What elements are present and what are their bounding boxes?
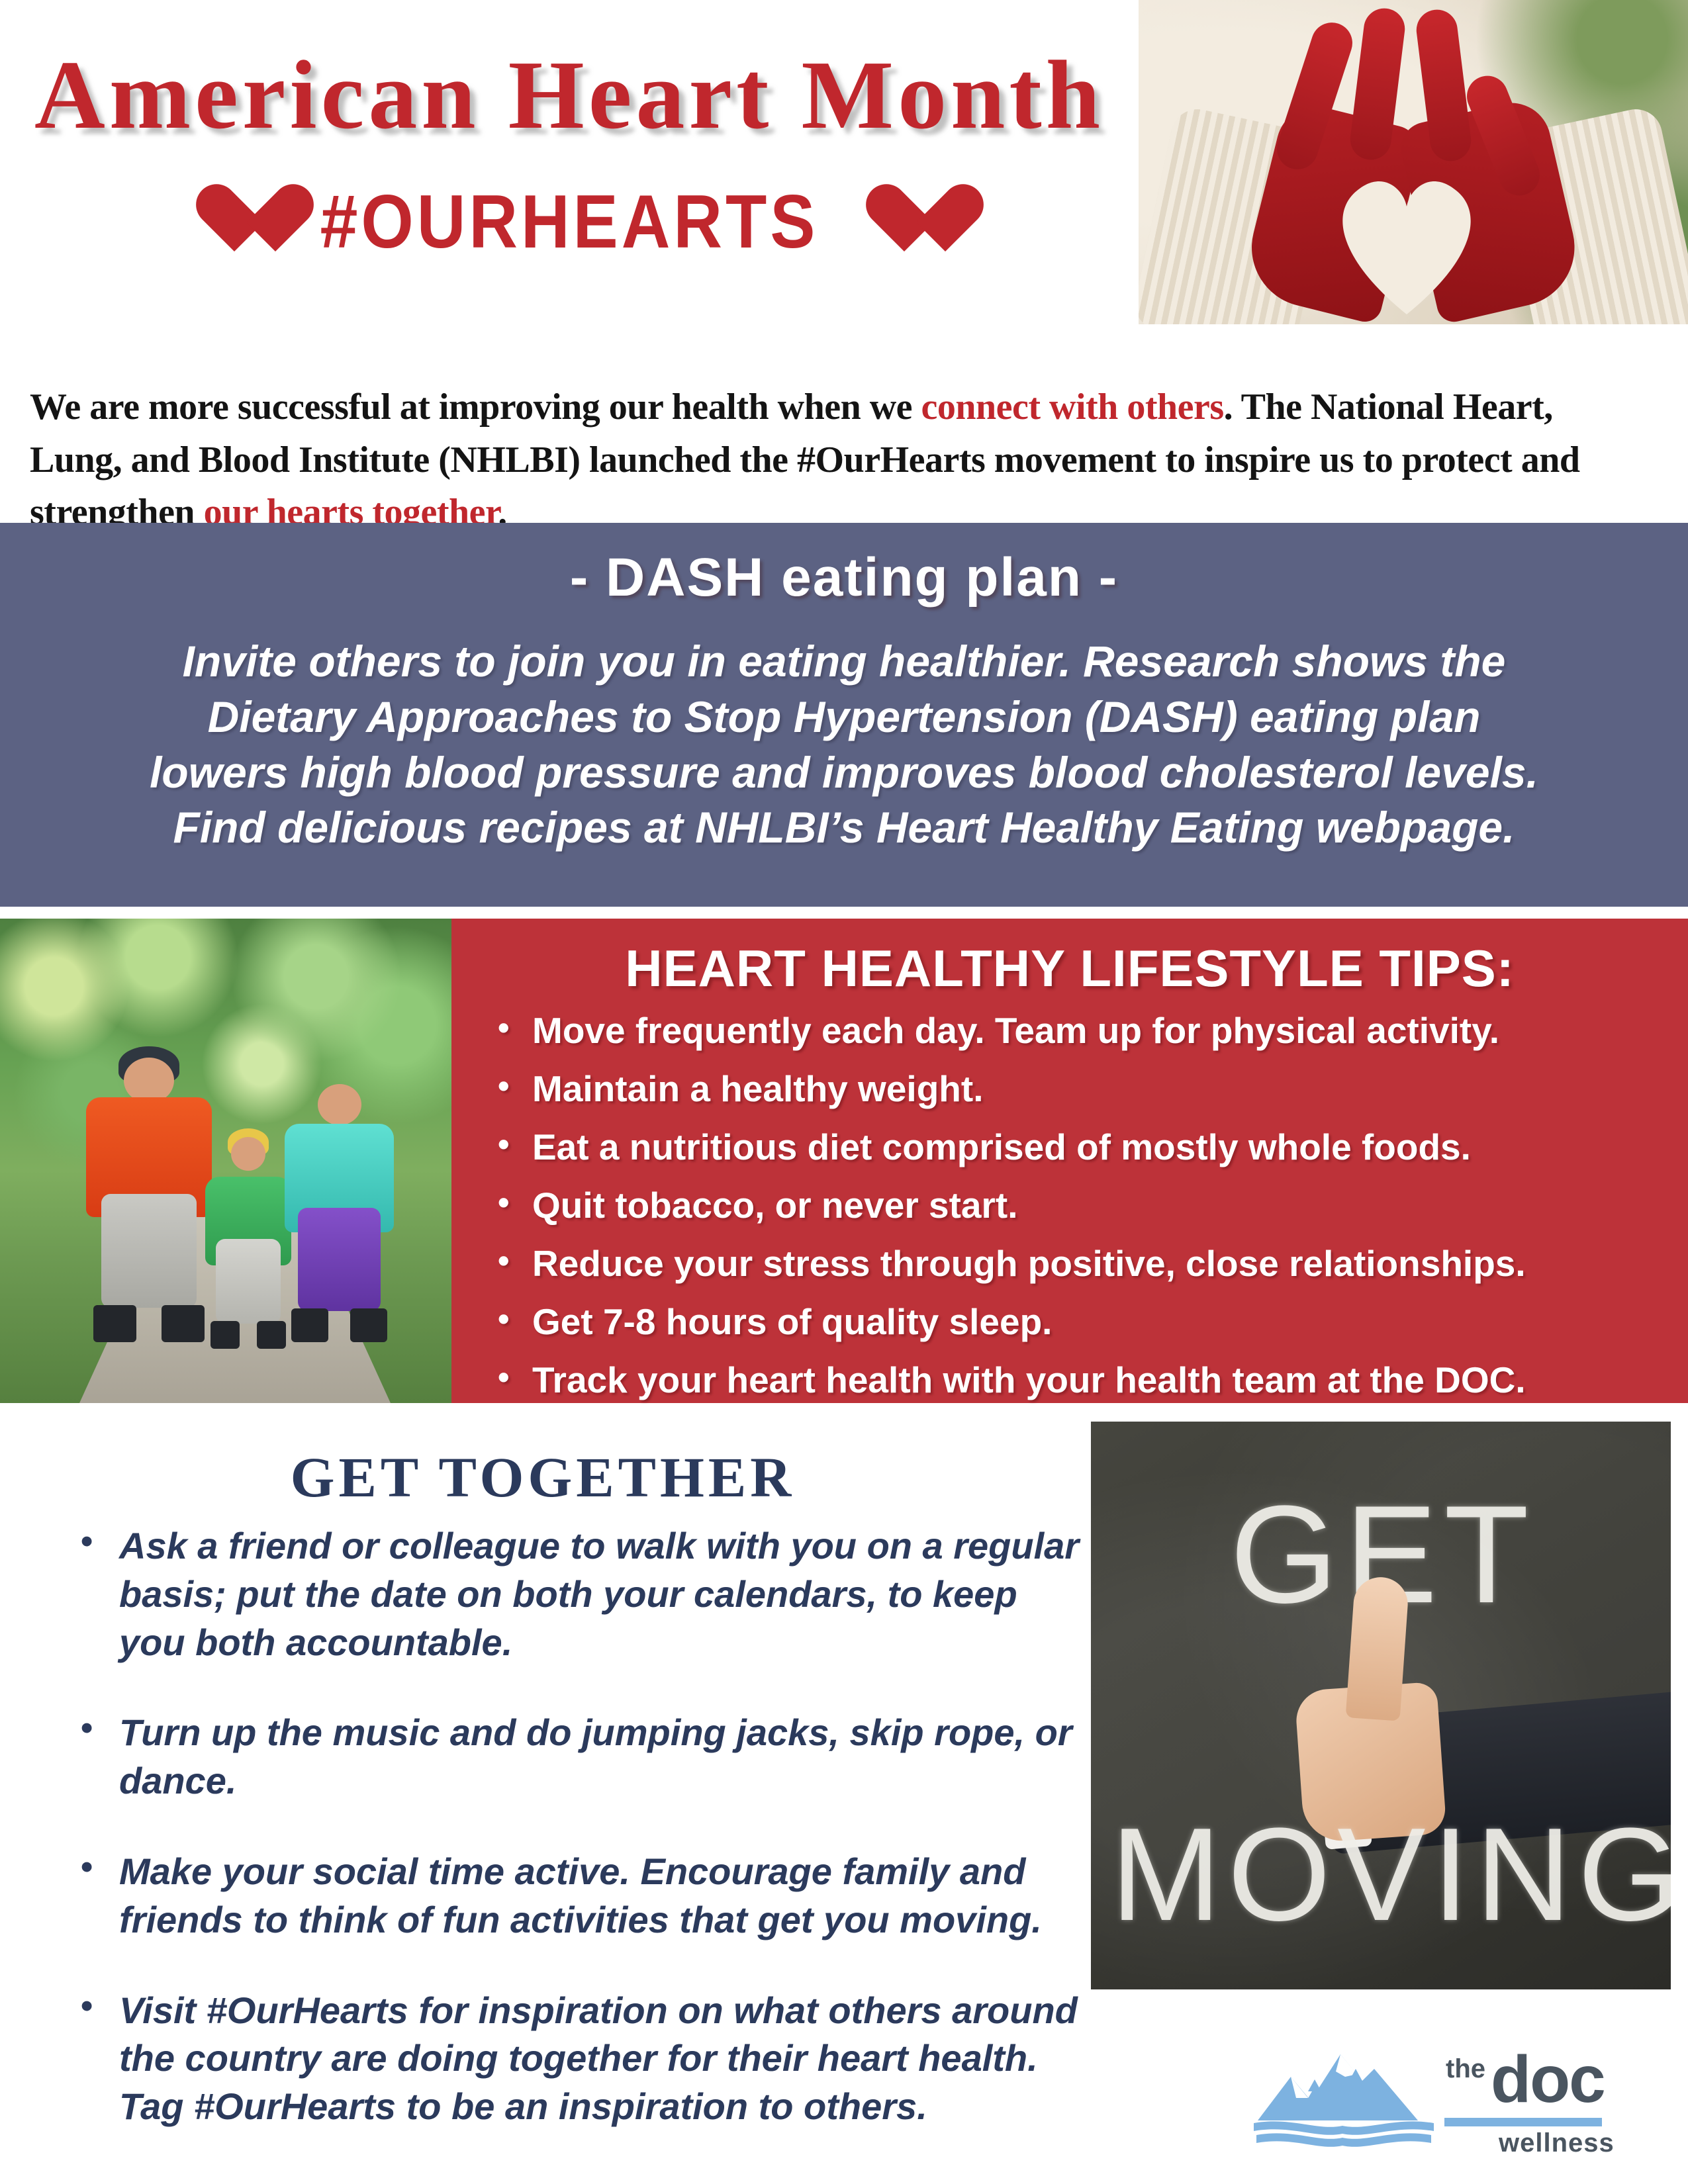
heart-icon bbox=[195, 185, 274, 258]
person-figure bbox=[205, 1137, 291, 1349]
dash-body: Invite others to join you in eating heal… bbox=[40, 634, 1648, 856]
hashtag-label: #OURHEARTS bbox=[320, 178, 819, 265]
rollerblade bbox=[162, 1305, 205, 1342]
tips-title: HEART HEALTHY LIFESTYLE TIPS: bbox=[451, 938, 1688, 999]
mountain-book-icon bbox=[1244, 2042, 1443, 2161]
lifestyle-tips-section: HEART HEALTHY LIFESTYLE TIPS: Move frequ… bbox=[0, 919, 1688, 1403]
list-item: Ask a friend or colleague to walk with y… bbox=[119, 1522, 1092, 1666]
dash-section: - DASH eating plan - Invite others to jo… bbox=[0, 523, 1688, 907]
title-block: American Heart Month #OURHEARTS bbox=[0, 0, 1139, 311]
poster-header: American Heart Month #OURHEARTS bbox=[0, 0, 1688, 331]
tips-list: Move frequently each day. Team up for ph… bbox=[451, 1013, 1688, 1420]
chalk-text-moving: MOVING bbox=[1111, 1799, 1671, 1951]
tips-panel: HEART HEALTHY LIFESTYLE TIPS: Move frequ… bbox=[451, 919, 1688, 1403]
head bbox=[318, 1084, 361, 1125]
leggings bbox=[298, 1208, 381, 1311]
rollerblade bbox=[93, 1305, 136, 1342]
shorts bbox=[216, 1239, 281, 1324]
list-item: Eat a nutritious diet comprised of mostl… bbox=[532, 1129, 1668, 1165]
list-item: Visit #OurHearts for inspiration on what… bbox=[119, 1987, 1092, 2131]
mitten-heart-photo bbox=[1139, 0, 1688, 324]
list-item: Make your social time active. Encourage … bbox=[119, 1848, 1092, 1944]
head bbox=[231, 1137, 265, 1171]
head bbox=[124, 1058, 174, 1103]
heart-icon bbox=[865, 185, 944, 258]
get-together-title: GET TOGETHER bbox=[40, 1444, 1046, 1510]
logo-underline bbox=[1444, 2118, 1602, 2126]
family-rollerblading-photo bbox=[0, 919, 451, 1403]
list-item: Reduce your stress through positive, clo… bbox=[532, 1246, 1668, 1282]
intro-text-1: We are more successful at improving our … bbox=[30, 387, 921, 428]
page-title: American Heart Month bbox=[26, 46, 1112, 144]
dash-title: - DASH eating plan - bbox=[0, 547, 1688, 609]
intro-paragraph: We are more successful at improving our … bbox=[30, 381, 1632, 539]
person-figure bbox=[86, 1058, 212, 1342]
list-item: Move frequently each day. Team up for ph… bbox=[532, 1013, 1668, 1049]
get-moving-photo: GET MOVING bbox=[1091, 1422, 1671, 1989]
rollerblade bbox=[211, 1321, 240, 1349]
hashtag-row: #OURHEARTS bbox=[159, 159, 980, 285]
logo-wordmark: the doc wellness bbox=[1443, 2044, 1615, 2163]
list-item: Maintain a healthy weight. bbox=[532, 1071, 1668, 1107]
list-item: Turn up the music and do jumping jacks, … bbox=[119, 1709, 1092, 1805]
thumbs-up-icon bbox=[1346, 1575, 1410, 1721]
list-item: Track your heart health with your health… bbox=[532, 1362, 1668, 1398]
rollerblade bbox=[257, 1321, 286, 1349]
doc-wellness-logo: the doc wellness bbox=[1244, 2037, 1615, 2169]
person-figure bbox=[285, 1084, 394, 1342]
dash-line: Find delicious recipes at NHLBI’s Heart … bbox=[40, 800, 1648, 856]
logo-wellness-label: wellness bbox=[1499, 2128, 1615, 2158]
list-item: Get 7-8 hours of quality sleep. bbox=[532, 1304, 1668, 1340]
list-item: Quit tobacco, or never start. bbox=[532, 1187, 1668, 1224]
dash-line: Dietary Approaches to Stop Hypertension … bbox=[40, 690, 1648, 745]
get-together-list: Ask a friend or colleague to walk with y… bbox=[46, 1522, 1092, 2173]
logo-doc-label: doc bbox=[1491, 2046, 1605, 2113]
dash-line: lowers high blood pressure and improves … bbox=[40, 745, 1648, 801]
rollerblade bbox=[291, 1308, 328, 1342]
shorts bbox=[101, 1194, 197, 1308]
logo-the-label: the bbox=[1446, 2054, 1485, 2084]
intro-accent-1: connect with others bbox=[921, 387, 1224, 428]
dash-line: Invite others to join you in eating heal… bbox=[40, 634, 1648, 690]
rollerblade bbox=[350, 1308, 387, 1342]
